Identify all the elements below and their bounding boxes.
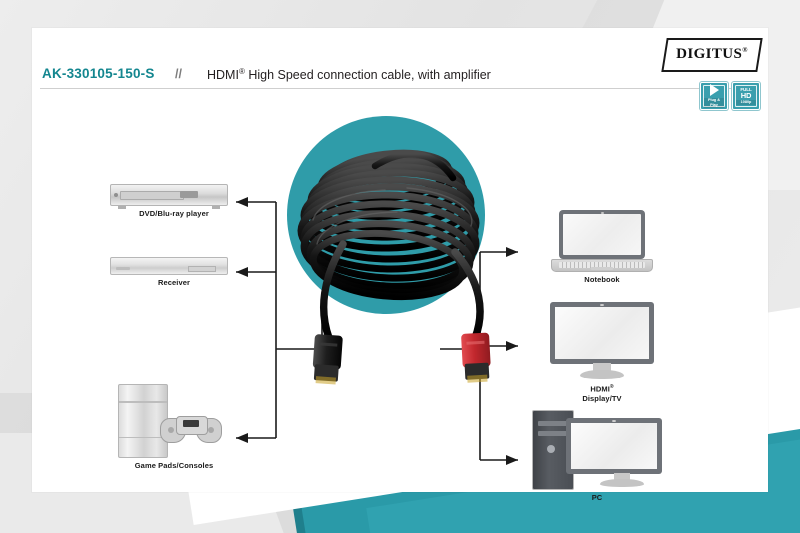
description-suffix: High Speed connection cable, with amplif… [245, 68, 491, 82]
arrowhead-pc [506, 455, 518, 465]
logo-text: DIGITUS® [664, 46, 760, 63]
pc-drive-bay-2 [538, 431, 568, 436]
hdmi-connector-black [312, 334, 343, 385]
chevron-play-icon [710, 84, 719, 96]
pc-monitor-stand [600, 479, 644, 487]
hdmi-display-label: HDMI®Display/TV [532, 383, 672, 403]
badge-full-hd-big: HD [741, 92, 751, 99]
monitor-screen [555, 307, 649, 359]
pc-label: PC [522, 493, 672, 502]
pc-monitor-indicator-icon [612, 420, 616, 422]
receiver-slot [188, 266, 216, 272]
hdmi-cable-coil [257, 102, 527, 392]
monitor-icon [550, 302, 654, 380]
receiver-label: Receiver [110, 278, 238, 287]
dvd-foot-left [118, 206, 126, 209]
connection-diagram: DVD/Blu-ray player Receiver [32, 102, 768, 492]
monitor-frame [550, 302, 654, 364]
pc-monitor-frame [566, 418, 662, 474]
product-datasheet-image: AK-330105-150-S // HDMI® High Speed conn… [0, 0, 800, 533]
header-divider [40, 88, 760, 89]
dvd-foot-right [212, 206, 220, 209]
dvd-player-label: DVD/Blu-ray player [110, 209, 238, 218]
gamepad-stick-left [168, 427, 174, 433]
header: AK-330105-150-S // HDMI® High Speed conn… [32, 28, 768, 100]
notebook-label: Notebook [532, 275, 672, 284]
monitor-stand [580, 370, 624, 379]
logo-registered-mark-icon: ® [742, 46, 748, 54]
separator-slashes: // [175, 67, 182, 81]
node-hdmi-display: HDMI®Display/TV [532, 302, 672, 403]
console-line-2 [119, 402, 167, 403]
notebook-base [551, 259, 653, 272]
gamepad-icon [160, 414, 222, 442]
node-dvd-player: DVD/Blu-ray player [110, 184, 238, 218]
node-receiver: Receiver [110, 257, 238, 287]
hdmi-registered-mark-icon: ® [610, 384, 614, 390]
receiver-icon [110, 257, 228, 275]
content-card: AK-330105-150-S // HDMI® High Speed conn… [32, 28, 768, 492]
dvd-tray [120, 191, 184, 200]
pc-icon [532, 410, 662, 490]
notebook-touchpad [591, 267, 613, 270]
logo-wordmark: DIGITUS [676, 46, 742, 62]
hdmi-display-label-line2: Display/TV [582, 394, 621, 403]
notebook-screen [563, 214, 641, 255]
pc-power-button-icon [547, 445, 555, 453]
receiver-knob [116, 267, 130, 270]
pc-drive-bay-1 [538, 421, 568, 426]
gamepad-touchpad [183, 420, 199, 427]
hdmi-connector-red [461, 333, 492, 383]
monitor-indicator-icon [600, 304, 604, 306]
node-game-console: Game Pads/Consoles [104, 384, 244, 470]
node-notebook: Notebook [532, 210, 672, 284]
description-prefix: HDMI [207, 68, 239, 82]
dvd-player-icon [110, 184, 228, 206]
game-console-label: Game Pads/Consoles [104, 461, 244, 470]
notebook-lid [559, 210, 645, 259]
notebook-icon [551, 210, 653, 272]
hdmi-display-label-line1: HDMI [590, 385, 610, 394]
digitus-logo: DIGITUS® [664, 38, 760, 72]
dvd-display [180, 191, 198, 198]
pc-monitor-screen [571, 423, 657, 469]
node-pc: PC [522, 410, 672, 502]
gamepad-stick-right [208, 427, 214, 433]
product-description: HDMI® High Speed connection cable, with … [207, 67, 491, 82]
product-sku: AK-330105-150-S [42, 66, 155, 81]
game-console-icon [104, 384, 234, 458]
dvd-power-button [114, 193, 118, 197]
